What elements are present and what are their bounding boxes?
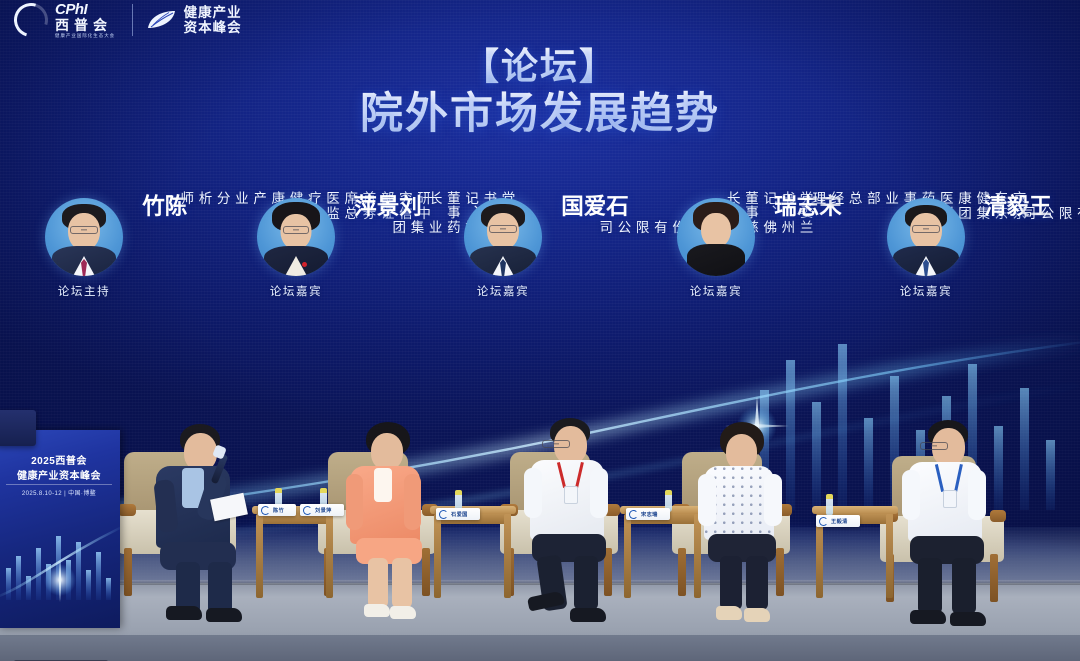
logo-divider [132, 4, 133, 36]
nameplate-logo-icon [439, 510, 448, 519]
panelist-1 [150, 424, 270, 626]
nameplate-logo-icon [303, 506, 312, 515]
logo-summit: 健康产业 资本峰会 [147, 5, 242, 35]
rollup-banner: 2025西普会 健康产业资本峰会 2025.8.10-12 | 中国·博鳌 [0, 430, 120, 628]
summit-line-1: 健康产业 [184, 5, 242, 20]
nameplate-logo-icon [261, 506, 270, 515]
cphi-sub-label: 健康产业国际化生态大会 [55, 34, 115, 38]
panelist-4 [696, 422, 806, 628]
portrait-liu-jingping [257, 198, 335, 276]
summit-line-2: 资本峰会 [184, 20, 242, 35]
logo-cphi: CPhI 西普会 健康产业国际化生态大会 [14, 2, 118, 39]
cphi-cn-label: 西普会 [55, 18, 118, 32]
title-line-1: 【论坛】 [0, 46, 1080, 87]
speaker-role-2: 论坛嘉宾 [248, 283, 344, 299]
nameplate-2: 刘景萍 [300, 504, 344, 516]
cphi-en-label: CPhI [55, 2, 118, 17]
eyeglasses-icon [920, 442, 948, 450]
badge [943, 490, 957, 508]
leaf-mark-icon [147, 9, 177, 31]
nameplate-logo-icon [819, 517, 828, 526]
nameplate-logo-icon [629, 510, 638, 519]
banner-line-2: 健康产业资本峰会 [0, 467, 120, 482]
banner-line-1: 2025西普会 [0, 452, 120, 467]
portrait-song-zhirui [677, 198, 755, 276]
portrait-chen-zhu [45, 198, 123, 276]
cphi-circle-mark-icon [8, 0, 54, 43]
speaker-role-1: 论坛主持 [36, 283, 132, 299]
forum-title: 【论坛】 院外市场发展趋势 [0, 46, 1080, 140]
nameplate-3: 石爱国 [436, 508, 480, 520]
title-line-2: 院外市场发展趋势 [0, 89, 1080, 140]
water-bottle-5 [826, 494, 833, 516]
speaker-panel: 论坛主持 陈竹 研究部首席医疗健康产业分析师 中信证券 总监 论坛嘉宾 刘景萍 … [0, 186, 1080, 426]
nameplate-1: 陈竹 [258, 504, 296, 516]
speaker-role-3: 论坛嘉宾 [455, 283, 551, 299]
speaker-role-4: 论坛嘉宾 [668, 283, 764, 299]
portrait-shi-aiguo [464, 198, 542, 276]
panelist-3 [522, 418, 638, 628]
speaker-role-5: 论坛嘉宾 [878, 283, 974, 299]
stage-floor-front [0, 635, 1080, 661]
nameplate-4: 宋志瑞 [626, 508, 670, 520]
portrait-wang-yiqing [887, 198, 965, 276]
nameplate-5: 王毅清 [816, 515, 860, 527]
panelist-2 [342, 422, 452, 627]
banner-divider [6, 484, 112, 485]
badge [564, 486, 578, 504]
banner-line-3: 2025.8.10-12 | 中国·博鳌 [0, 488, 120, 497]
eyeglasses-icon [542, 440, 570, 448]
header-logo-bar: CPhI 西普会 健康产业国际化生态大会 健康产业 资本峰会 [14, 2, 242, 39]
panelist-5 [900, 420, 1016, 630]
speaker-org-5: 董事长 湖南达嘉维康医药集团有限公司 [1018, 191, 1080, 220]
